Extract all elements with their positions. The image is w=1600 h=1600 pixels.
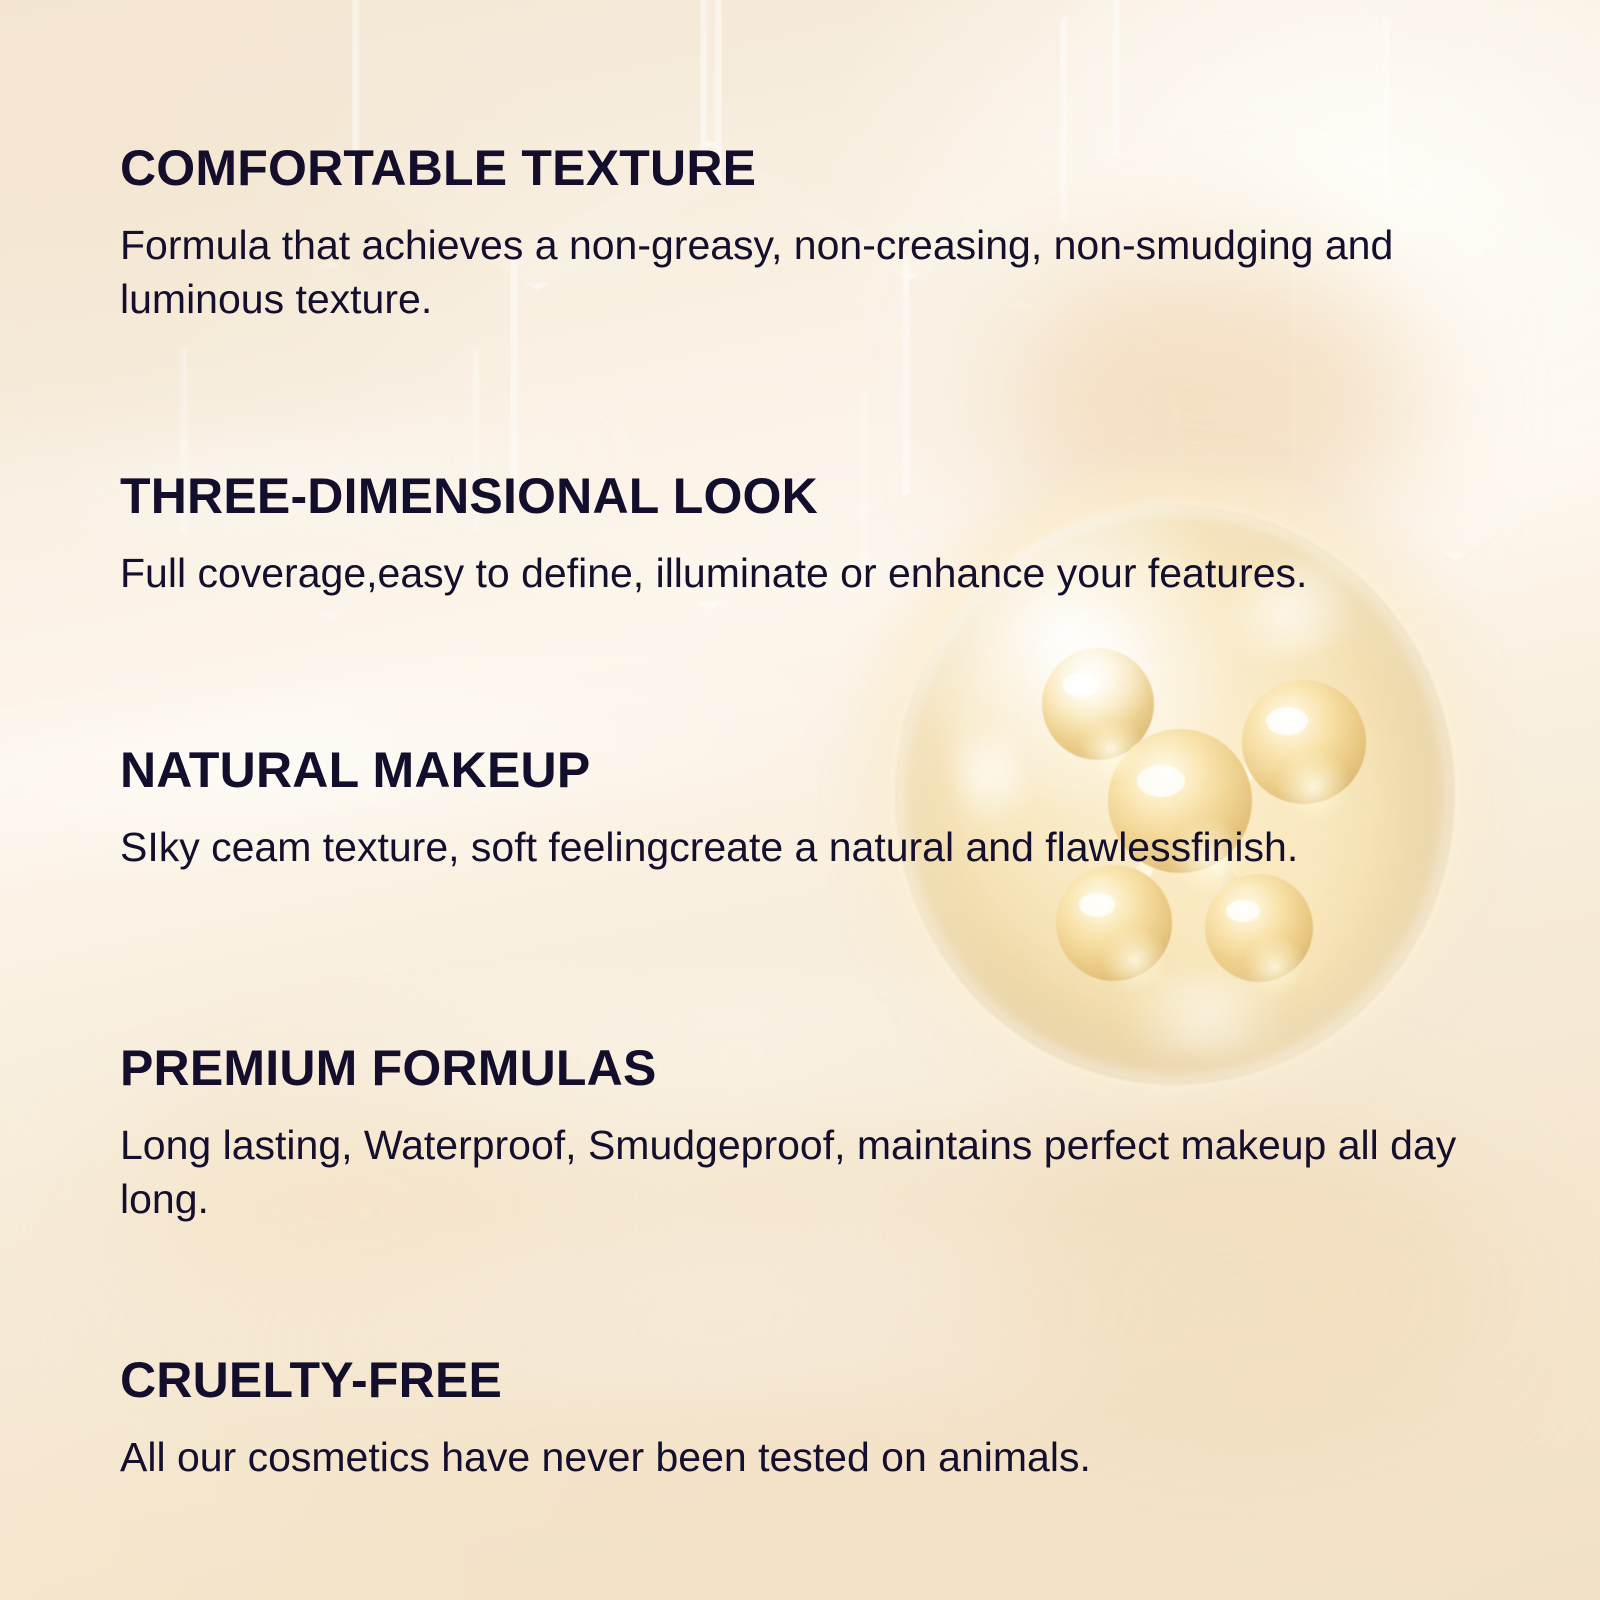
feature-body: All our cosmetics have never been tested… (120, 1430, 1091, 1484)
feature-heading: PREMIUM FORMULAS (120, 1040, 1480, 1096)
feature-block-premium-formulas: PREMIUM FORMULAS Long lasting, Waterproo… (120, 1040, 1480, 1226)
product-feature-panel: COMFORTABLE TEXTURE Formula that achieve… (0, 0, 1600, 1600)
feature-block-comfortable-texture: COMFORTABLE TEXTURE Formula that achieve… (120, 140, 1480, 326)
feature-heading: CRUELTY-FREE (120, 1352, 1091, 1408)
feature-block-cruelty-free: CRUELTY-FREE All our cosmetics have neve… (120, 1352, 1091, 1484)
feature-block-natural-makeup: NATURAL MAKEUP SIky ceam texture, soft f… (120, 742, 1298, 874)
feature-block-three-dimensional-look: THREE-DIMENSIONAL LOOK Full coverage,eas… (120, 468, 1307, 600)
feature-heading: COMFORTABLE TEXTURE (120, 140, 1480, 196)
feature-body: Long lasting, Waterproof, Smudgeproof, m… (120, 1118, 1480, 1226)
feature-heading: NATURAL MAKEUP (120, 742, 1298, 798)
feature-body: Formula that achieves a non-greasy, non-… (120, 218, 1480, 326)
feature-body: SIky ceam texture, soft feelingcreate a … (120, 820, 1298, 874)
feature-heading: THREE-DIMENSIONAL LOOK (120, 468, 1307, 524)
feature-body: Full coverage,easy to define, illuminate… (120, 546, 1307, 600)
